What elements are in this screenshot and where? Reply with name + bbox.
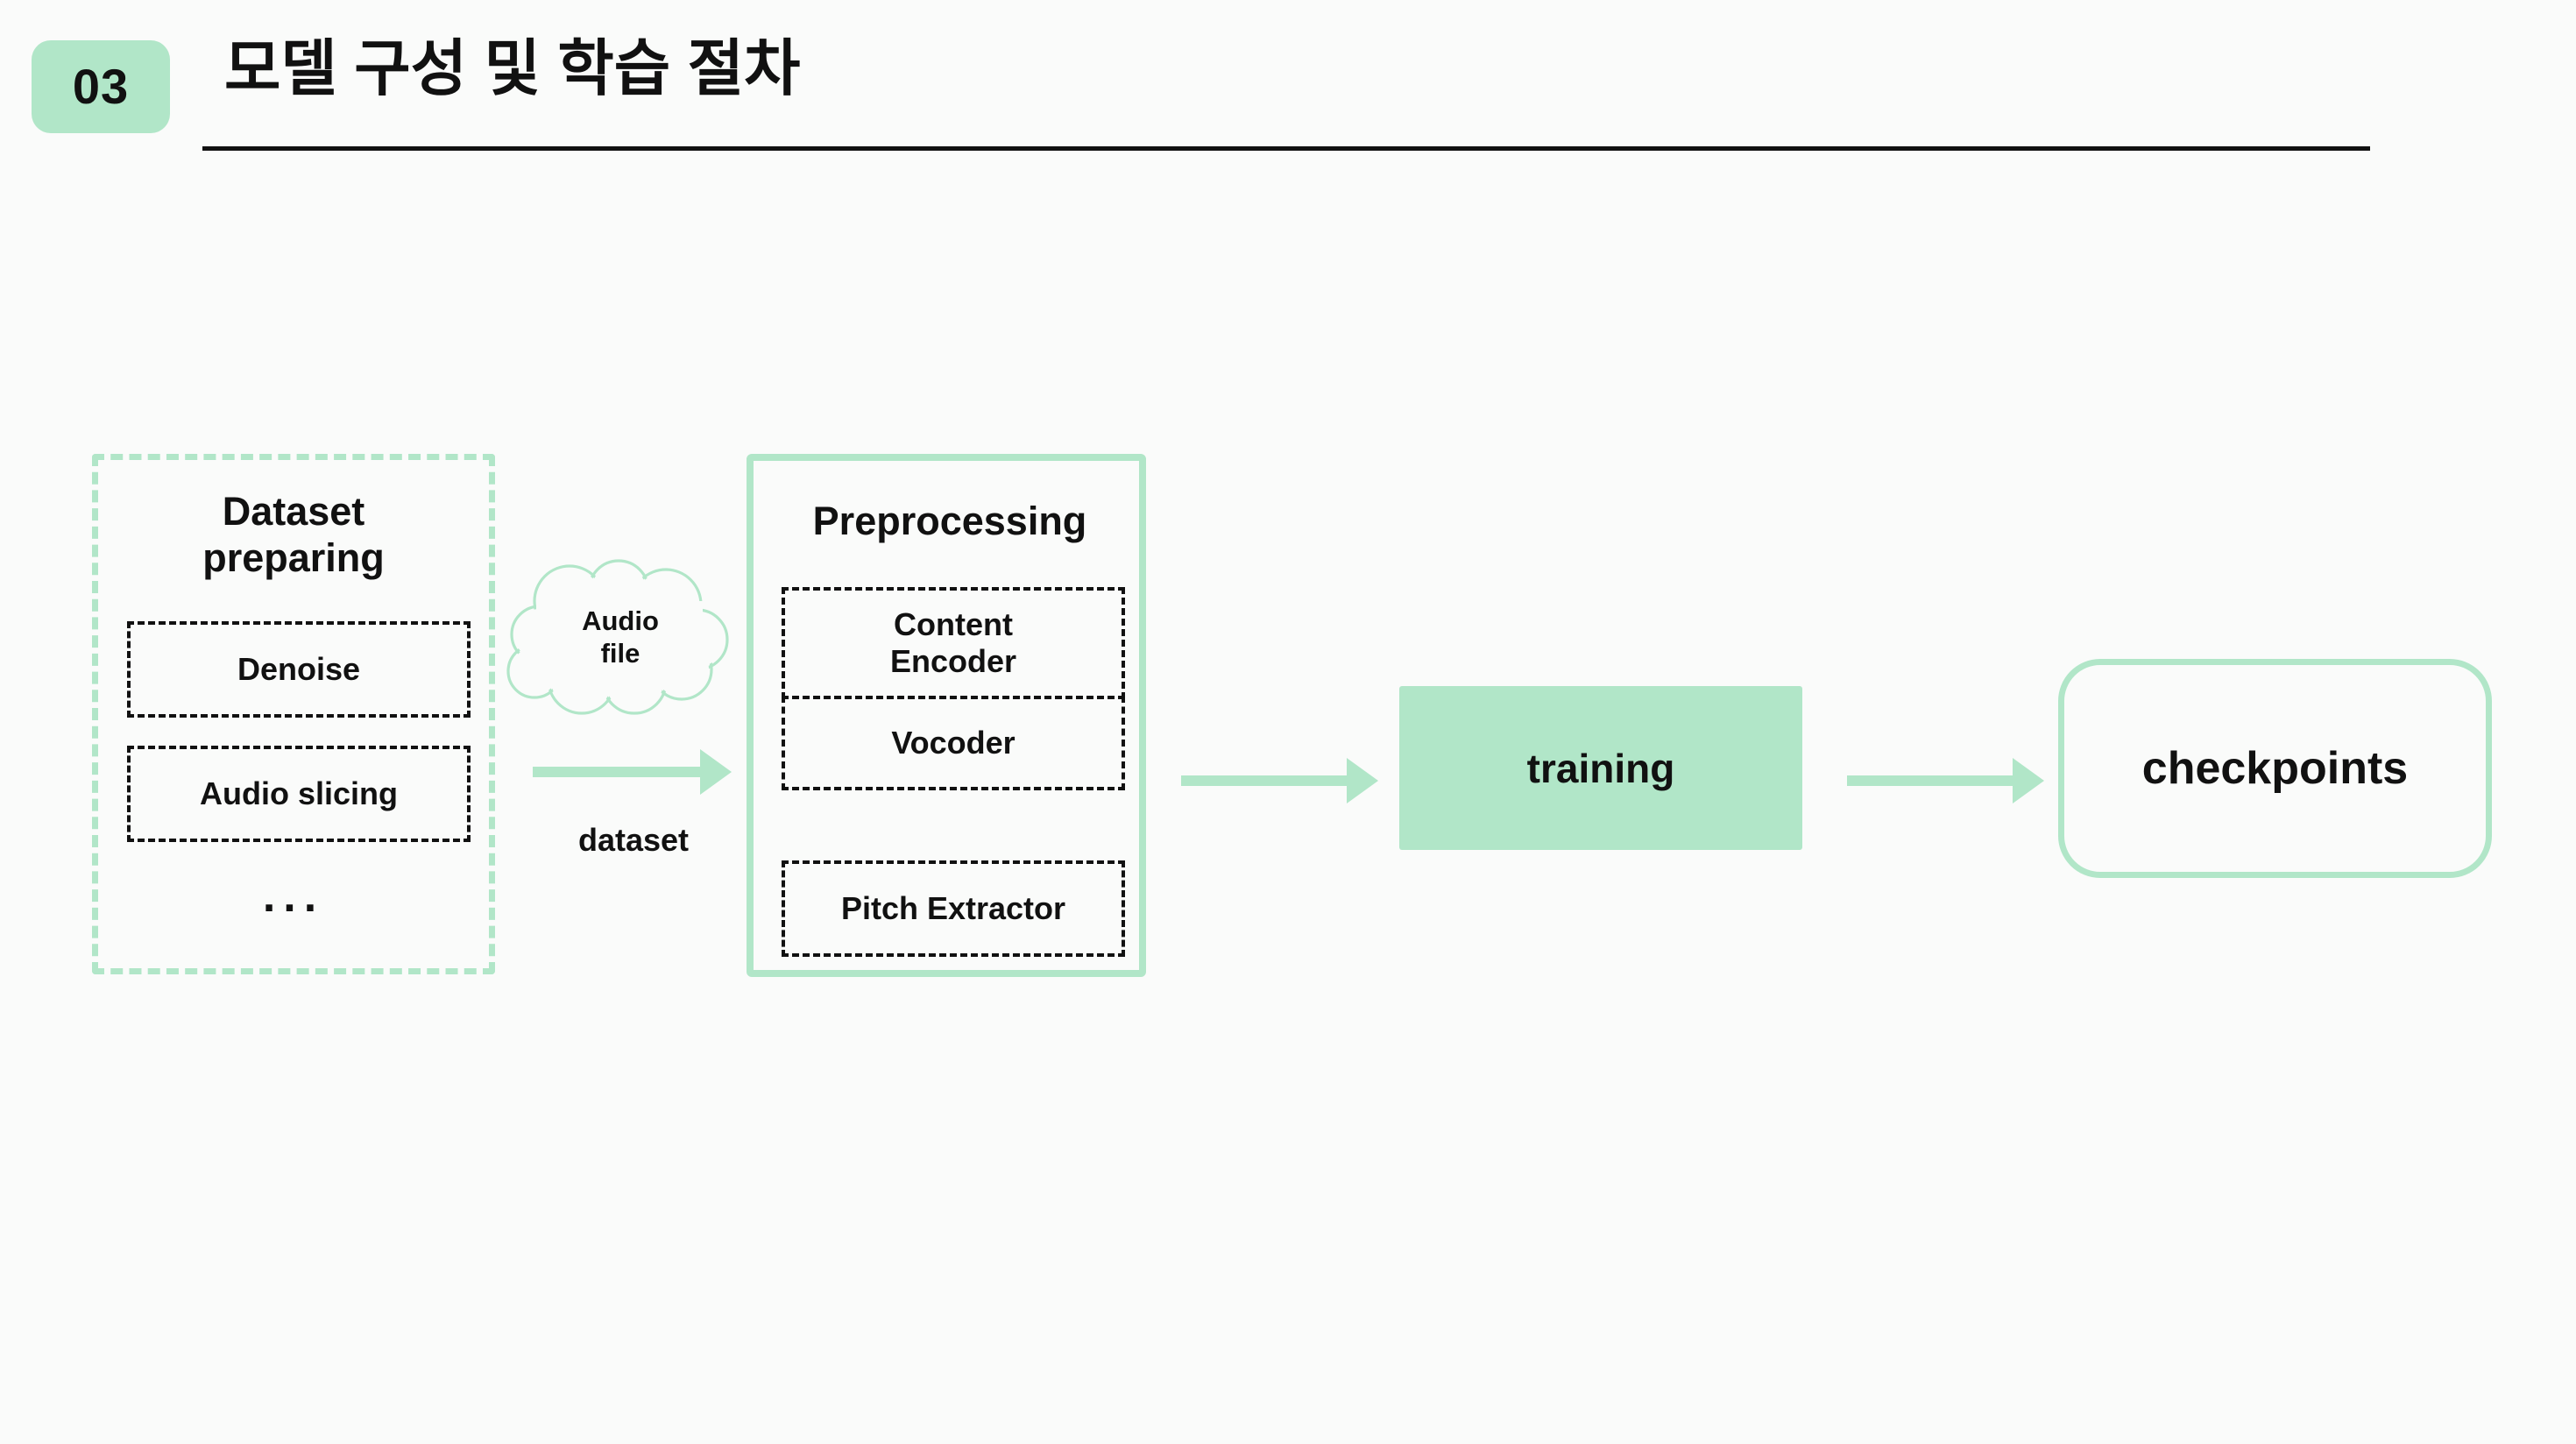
dataset-preparing-title-line1: Dataset xyxy=(98,488,489,534)
content-encoder-label-line1: Content xyxy=(894,606,1013,642)
denoise-step-box: Denoise xyxy=(127,621,471,718)
preprocessing-title: Preprocessing xyxy=(766,498,1134,544)
denoise-label: Denoise xyxy=(237,651,360,688)
vocoder-label: Vocoder xyxy=(891,725,1015,761)
dataset-preparing-title-line2: preparing xyxy=(98,534,489,581)
audio-slicing-label: Audio slicing xyxy=(200,775,398,812)
training-label: training xyxy=(1527,745,1675,792)
training-node: training xyxy=(1399,686,1802,850)
audio-file-label-line1: Audio xyxy=(501,605,740,637)
arrow-dataset-to-preprocessing xyxy=(533,749,732,795)
audio-file-label: Audio file xyxy=(501,605,740,669)
content-encoder-label: Content Encoder xyxy=(890,606,1016,680)
checkpoints-node: checkpoints xyxy=(2058,659,2492,878)
arrow-head-icon xyxy=(1347,758,1378,803)
dataset-preparing-group: Dataset preparing Denoise Audio slicing … xyxy=(92,454,495,974)
arrow-preprocessing-to-training xyxy=(1181,758,1378,803)
arrow-shaft xyxy=(1181,775,1348,786)
arrow-dataset-label: dataset xyxy=(533,822,734,859)
dataset-steps-ellipsis: ... xyxy=(98,874,489,919)
pitch-extractor-box: Pitch Extractor xyxy=(782,860,1125,957)
pipeline-diagram: Dataset preparing Denoise Audio slicing … xyxy=(0,0,2576,1444)
audio-file-cloud: Audio file xyxy=(501,559,740,718)
content-encoder-box: Content Encoder xyxy=(782,587,1125,699)
content-encoder-label-line2: Encoder xyxy=(890,643,1016,679)
arrow-head-icon xyxy=(2013,758,2044,803)
preprocessing-group: Preprocessing Content Encoder Vocoder Pi… xyxy=(747,454,1146,977)
pitch-extractor-label: Pitch Extractor xyxy=(841,890,1065,927)
checkpoints-label: checkpoints xyxy=(2142,742,2408,795)
arrow-training-to-checkpoints xyxy=(1847,758,2044,803)
arrow-shaft xyxy=(1847,775,2013,786)
vocoder-box: Vocoder xyxy=(782,696,1125,790)
audio-file-label-line2: file xyxy=(501,637,740,669)
arrow-shaft xyxy=(533,767,701,777)
arrow-head-icon xyxy=(700,749,732,795)
audio-slicing-step-box: Audio slicing xyxy=(127,746,471,842)
dataset-preparing-title: Dataset preparing xyxy=(98,488,489,581)
